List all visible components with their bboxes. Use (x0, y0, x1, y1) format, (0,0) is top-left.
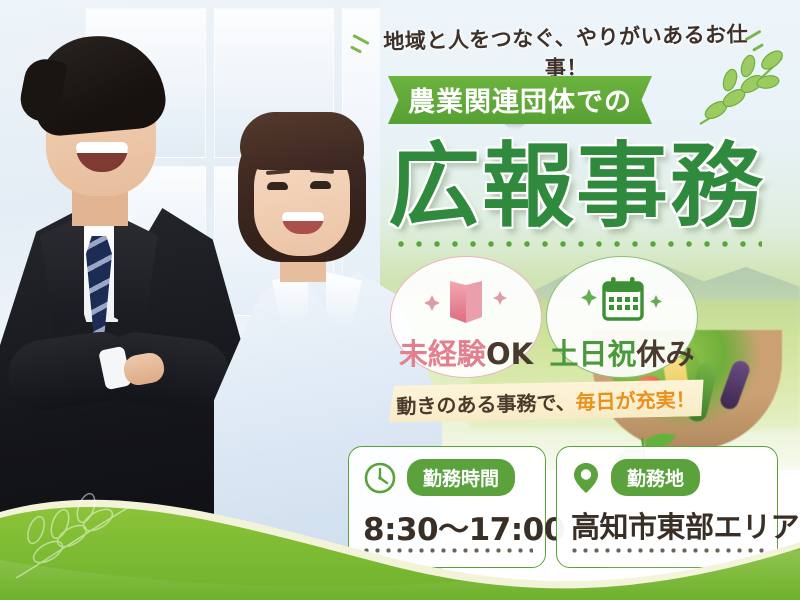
clock-icon (363, 461, 397, 495)
subtitle-text: 動きのある事務で、毎日が充実！ (396, 383, 696, 419)
badge-weekend-holiday-label: 土日祝休み (549, 331, 694, 373)
dotted-divider (392, 240, 762, 248)
badge-no-experience: 未経験OK (390, 256, 542, 378)
work-location-pill: 勤務地 (611, 459, 700, 496)
badge-weekend-holiday: 土日祝休み (546, 256, 698, 378)
open-book-icon (418, 273, 514, 329)
work-location-value: 高知市東部エリア (571, 504, 763, 546)
work-hours-value: 8:30〜17:00 (363, 504, 531, 549)
map-pin-icon (571, 461, 601, 495)
card-dotted-line (361, 548, 533, 553)
work-hours-pill: 勤務時間 (407, 459, 515, 496)
page-title: 広報事務 (352, 126, 800, 230)
leaf-sprig-decoration-icon (14, 490, 164, 582)
badge-no-experience-label: 未経験OK (399, 331, 533, 373)
info-card-work-location: 勤務地 高知市東部エリア (556, 446, 778, 568)
card-dotted-line (569, 548, 765, 553)
subtitle-tape: 動きのある事務で、毎日が充実！ (388, 378, 705, 424)
job-advertisement-banner: 地域と人をつなぐ、やりがいあるお仕事！ 農業関連団体での 広報事務 (0, 0, 800, 600)
calendar-icon (574, 273, 670, 329)
info-card-work-hours: 勤務時間 8:30〜17:00 (348, 446, 546, 568)
